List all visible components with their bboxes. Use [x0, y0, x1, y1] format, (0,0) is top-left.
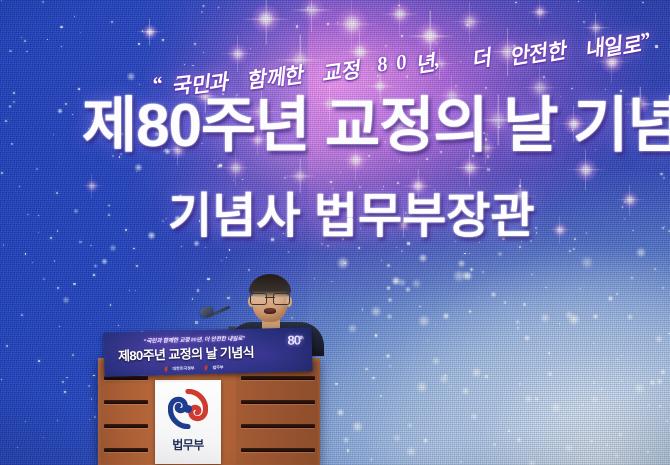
podium-slot: [241, 424, 315, 428]
taegeuk-mini-icon: [204, 365, 210, 371]
taegeuk-emblem-icon: [168, 389, 208, 429]
podium-slot: [104, 424, 148, 428]
podium-slot: [104, 400, 148, 404]
speaker-mouth: [264, 308, 276, 314]
podium-slot: [241, 448, 315, 452]
glasses-lens-right: [273, 293, 290, 305]
korea-gov-logo-text: 대한민국정부: [172, 365, 194, 372]
ministry-plaque: 법무부: [155, 380, 221, 464]
podium-banner-logo-group: 대한민국정부 법무부: [164, 365, 223, 373]
podium: 법무부 “국민과 함께한 교정 80년, 더 안전한 내일로” 제80주년 교정…: [88, 330, 328, 465]
glasses-icon: [250, 293, 290, 304]
backdrop-slogan: “국민과 함께한 교정 80년, 더 안전한 내일로”: [152, 72, 153, 73]
korea-gov-logo: 대한민국정부: [164, 365, 194, 372]
podium-slot: [104, 448, 148, 452]
backdrop-title-line2: 기념사 법무부장관: [168, 192, 535, 242]
podium-banner: “국민과 함께한 교정 80년, 더 안전한 내일로” 제80주년 교정의 날 …: [103, 327, 312, 377]
glasses-lens-left: [250, 293, 267, 305]
plaque-label: 법무부: [172, 436, 204, 453]
anniversary-80-mark: 80th: [287, 332, 303, 347]
taegeuk-mini-icon: [164, 366, 170, 372]
podium-banner-title: 제80주년 교정의 날 기념식: [118, 342, 254, 365]
podium-slot: [241, 400, 315, 404]
backdrop-title-line1: 제80주년 교정의 날 기념: [82, 95, 670, 157]
event-photo-stage: “국민과 함께한 교정 80년, 더 안전한 내일로” 제80주년 교정의 날 …: [0, 0, 670, 465]
anniversary-number: 80: [287, 332, 300, 347]
anniversary-suffix: th: [300, 335, 303, 341]
podium-slot: [241, 376, 315, 380]
ministry-of-justice-logo: 법무부: [204, 365, 223, 372]
ministry-logo-text: 법무부: [212, 365, 223, 371]
